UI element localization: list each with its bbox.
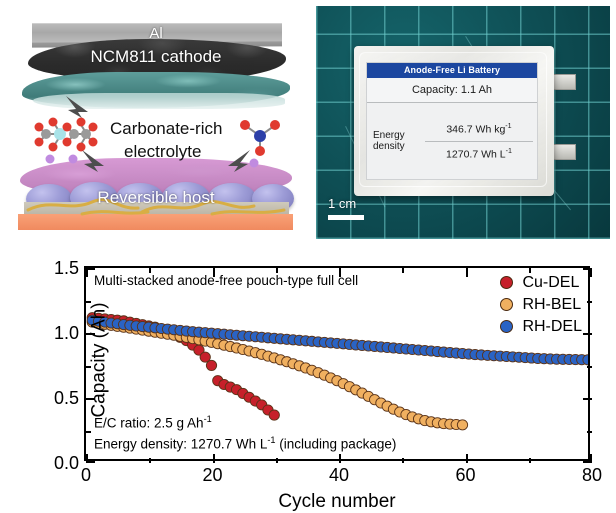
- energy-density-key-line1: Energy: [373, 130, 425, 142]
- top-figure-row: Al NCM811 cathode: [0, 0, 616, 245]
- electrolyte-label-line1: Carbonate-rich: [110, 119, 222, 139]
- series-rh-del: [87, 315, 588, 365]
- x-tick-label: 20: [202, 466, 222, 484]
- axis-tick: [213, 268, 215, 277]
- cell-schematic-panel: Al NCM811 cathode: [6, 6, 304, 239]
- downward-arrow-left-icon: [80, 148, 108, 174]
- battery-capacity-text: Capacity: 1.1 Ah: [367, 78, 537, 103]
- scale-bar-label: 1 cm: [328, 196, 356, 211]
- battery-spec-label: Anode-Free Li Battery Capacity: 1.1 Ah E…: [366, 62, 538, 180]
- ncm811-cathode-label: NCM811 cathode: [90, 47, 221, 67]
- axis-tick: [213, 454, 215, 463]
- x-tick-label: 80: [582, 466, 602, 484]
- y-tick-label: 0.0: [54, 454, 79, 472]
- volumetric-value: 1270.7 Wh L: [446, 148, 506, 160]
- energy-density-values: 346.7 Wh kg-1 1270.7 Wh L-1: [425, 117, 533, 165]
- battery-label-title: Anode-Free Li Battery: [367, 63, 537, 78]
- x-tick-label: 0: [81, 466, 91, 484]
- axis-tick: [529, 268, 531, 273]
- gravimetric-value: 346.7 Wh kg: [446, 124, 505, 136]
- axis-tick: [276, 458, 278, 463]
- x-tick-label: 40: [329, 466, 349, 484]
- electrolyte-label-line2: electrolyte: [124, 142, 201, 162]
- volumetric-exponent: -1: [506, 147, 512, 155]
- axis-tick: [402, 458, 404, 463]
- y-tick-label: 0.5: [54, 389, 79, 407]
- axis-tick: [587, 301, 592, 303]
- axis-tick: [466, 268, 468, 277]
- axis-tick: [276, 268, 278, 273]
- axis-tick: [339, 454, 341, 463]
- energy-density-key: Energy density: [373, 130, 425, 153]
- gravimetric-exponent: -1: [505, 122, 511, 130]
- energy-density-key-line2: density: [373, 141, 425, 153]
- axis-tick: [529, 458, 531, 463]
- pouch-cell-photo-panel: Anode-Free Li Battery Capacity: 1.1 Ah E…: [316, 6, 610, 239]
- x-tick-label: 60: [455, 466, 475, 484]
- y-tick-label: 1.0: [54, 324, 79, 342]
- axis-tick: [86, 431, 91, 433]
- downward-arrow-right-icon: [224, 148, 252, 174]
- data-point: [457, 420, 467, 430]
- y-axis-label: Capacity (Ah): [89, 302, 111, 417]
- data-series-canvas: [86, 268, 588, 459]
- downward-arrow-icon: [64, 94, 94, 120]
- data-point: [269, 410, 279, 420]
- axis-tick: [587, 366, 592, 368]
- axis-tick: [149, 268, 151, 273]
- axis-tick: [339, 268, 341, 277]
- pouch-cell-body: Anode-Free Li Battery Capacity: 1.1 Ah E…: [354, 46, 554, 196]
- data-point: [206, 360, 216, 370]
- plot-area: Multi-stacked anode-free pouch-type full…: [84, 266, 590, 461]
- axis-tick: [587, 431, 592, 433]
- axis-tick: [583, 333, 592, 335]
- axis-tick: [86, 268, 95, 270]
- reversible-host-label: Reversible host: [97, 188, 214, 208]
- axis-tick: [583, 398, 592, 400]
- al-label: Al: [149, 25, 162, 42]
- y-tick-label: 1.5: [54, 259, 79, 277]
- scale-bar: [328, 215, 364, 220]
- axis-tick: [86, 461, 95, 463]
- x-axis-label: Cycle number: [278, 491, 395, 513]
- axis-tick: [402, 268, 404, 273]
- axis-tick: [583, 268, 592, 270]
- battery-energy-density-block: Energy density 346.7 Wh kg-1 1270.7 Wh L…: [367, 103, 537, 179]
- axis-tick: [583, 461, 592, 463]
- schematic-illustration: Al NCM811 cathode: [6, 6, 304, 239]
- axis-tick: [466, 454, 468, 463]
- cycling-performance-chart: Multi-stacked anode-free pouch-type full…: [0, 245, 616, 506]
- interphase-layer: [22, 72, 290, 108]
- gravimetric-energy-density: 346.7 Wh kg-1: [425, 117, 533, 142]
- volumetric-energy-density: 1270.7 Wh L-1: [425, 142, 533, 166]
- axis-tick: [149, 458, 151, 463]
